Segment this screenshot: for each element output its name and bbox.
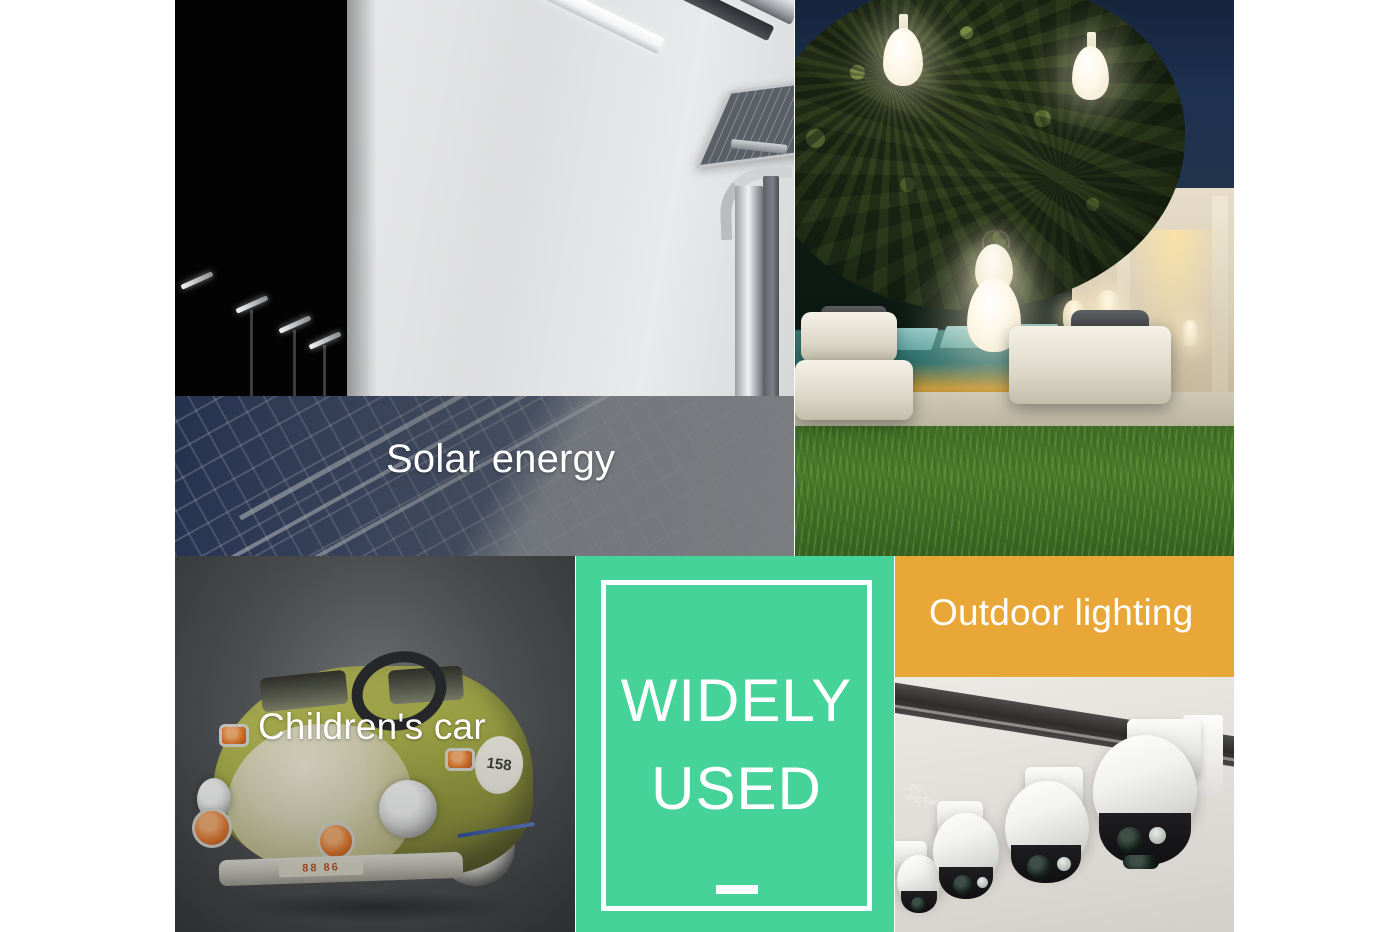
streetlight-night-backdrop (175, 0, 347, 396)
camera-lens (911, 897, 926, 912)
collage-root: Solar energy (0, 0, 1400, 932)
tile-garden-lighting[interactable] (795, 0, 1234, 556)
tile-childrens-car[interactable]: 158 88 86 Children's car (175, 556, 575, 932)
outdoor-cushion (795, 360, 913, 420)
caption-childrens-car: Children's car (258, 706, 486, 748)
widely-used-divider-dash (716, 885, 758, 894)
caption-solar-energy: Solar energy (386, 437, 615, 482)
streetlight-wall-shadow (347, 0, 377, 396)
streetlight-silhouette-pole (323, 345, 326, 396)
widely-used-line-2: USED (606, 759, 867, 819)
table-lamp (1182, 320, 1198, 346)
caption-outdoor-lighting: Outdoor lighting (929, 592, 1193, 634)
camera-ir-bar (1123, 855, 1159, 869)
tile-security-cameras[interactable]: IPC IPC Family (895, 677, 1234, 932)
streetlight-silhouette-pole (250, 310, 253, 396)
camera-lens (1117, 827, 1143, 853)
camera-lens (953, 875, 973, 895)
pole-rear-edge (763, 176, 779, 396)
camera-ir-led (1149, 827, 1166, 844)
camera-ir-led (977, 877, 988, 888)
tile-solar-energy[interactable]: Solar energy (175, 396, 794, 556)
outdoor-cushion (1009, 326, 1171, 404)
widely-used-line-1: WIDELY (606, 671, 867, 731)
camera-ir-led (1057, 857, 1071, 871)
streetlight-silhouette-pole (293, 330, 296, 396)
outdoor-cushion (801, 312, 897, 362)
tile-widely-used-badge[interactable]: WIDELY USED (576, 556, 894, 932)
tile-solar-street-light[interactable] (175, 0, 794, 396)
camera-lens (1027, 855, 1051, 879)
lawn (795, 426, 1234, 556)
widely-used-frame: WIDELY USED (601, 580, 872, 911)
tile-outdoor-lighting-band[interactable]: Outdoor lighting (895, 556, 1234, 677)
lamp-pole (735, 186, 763, 396)
